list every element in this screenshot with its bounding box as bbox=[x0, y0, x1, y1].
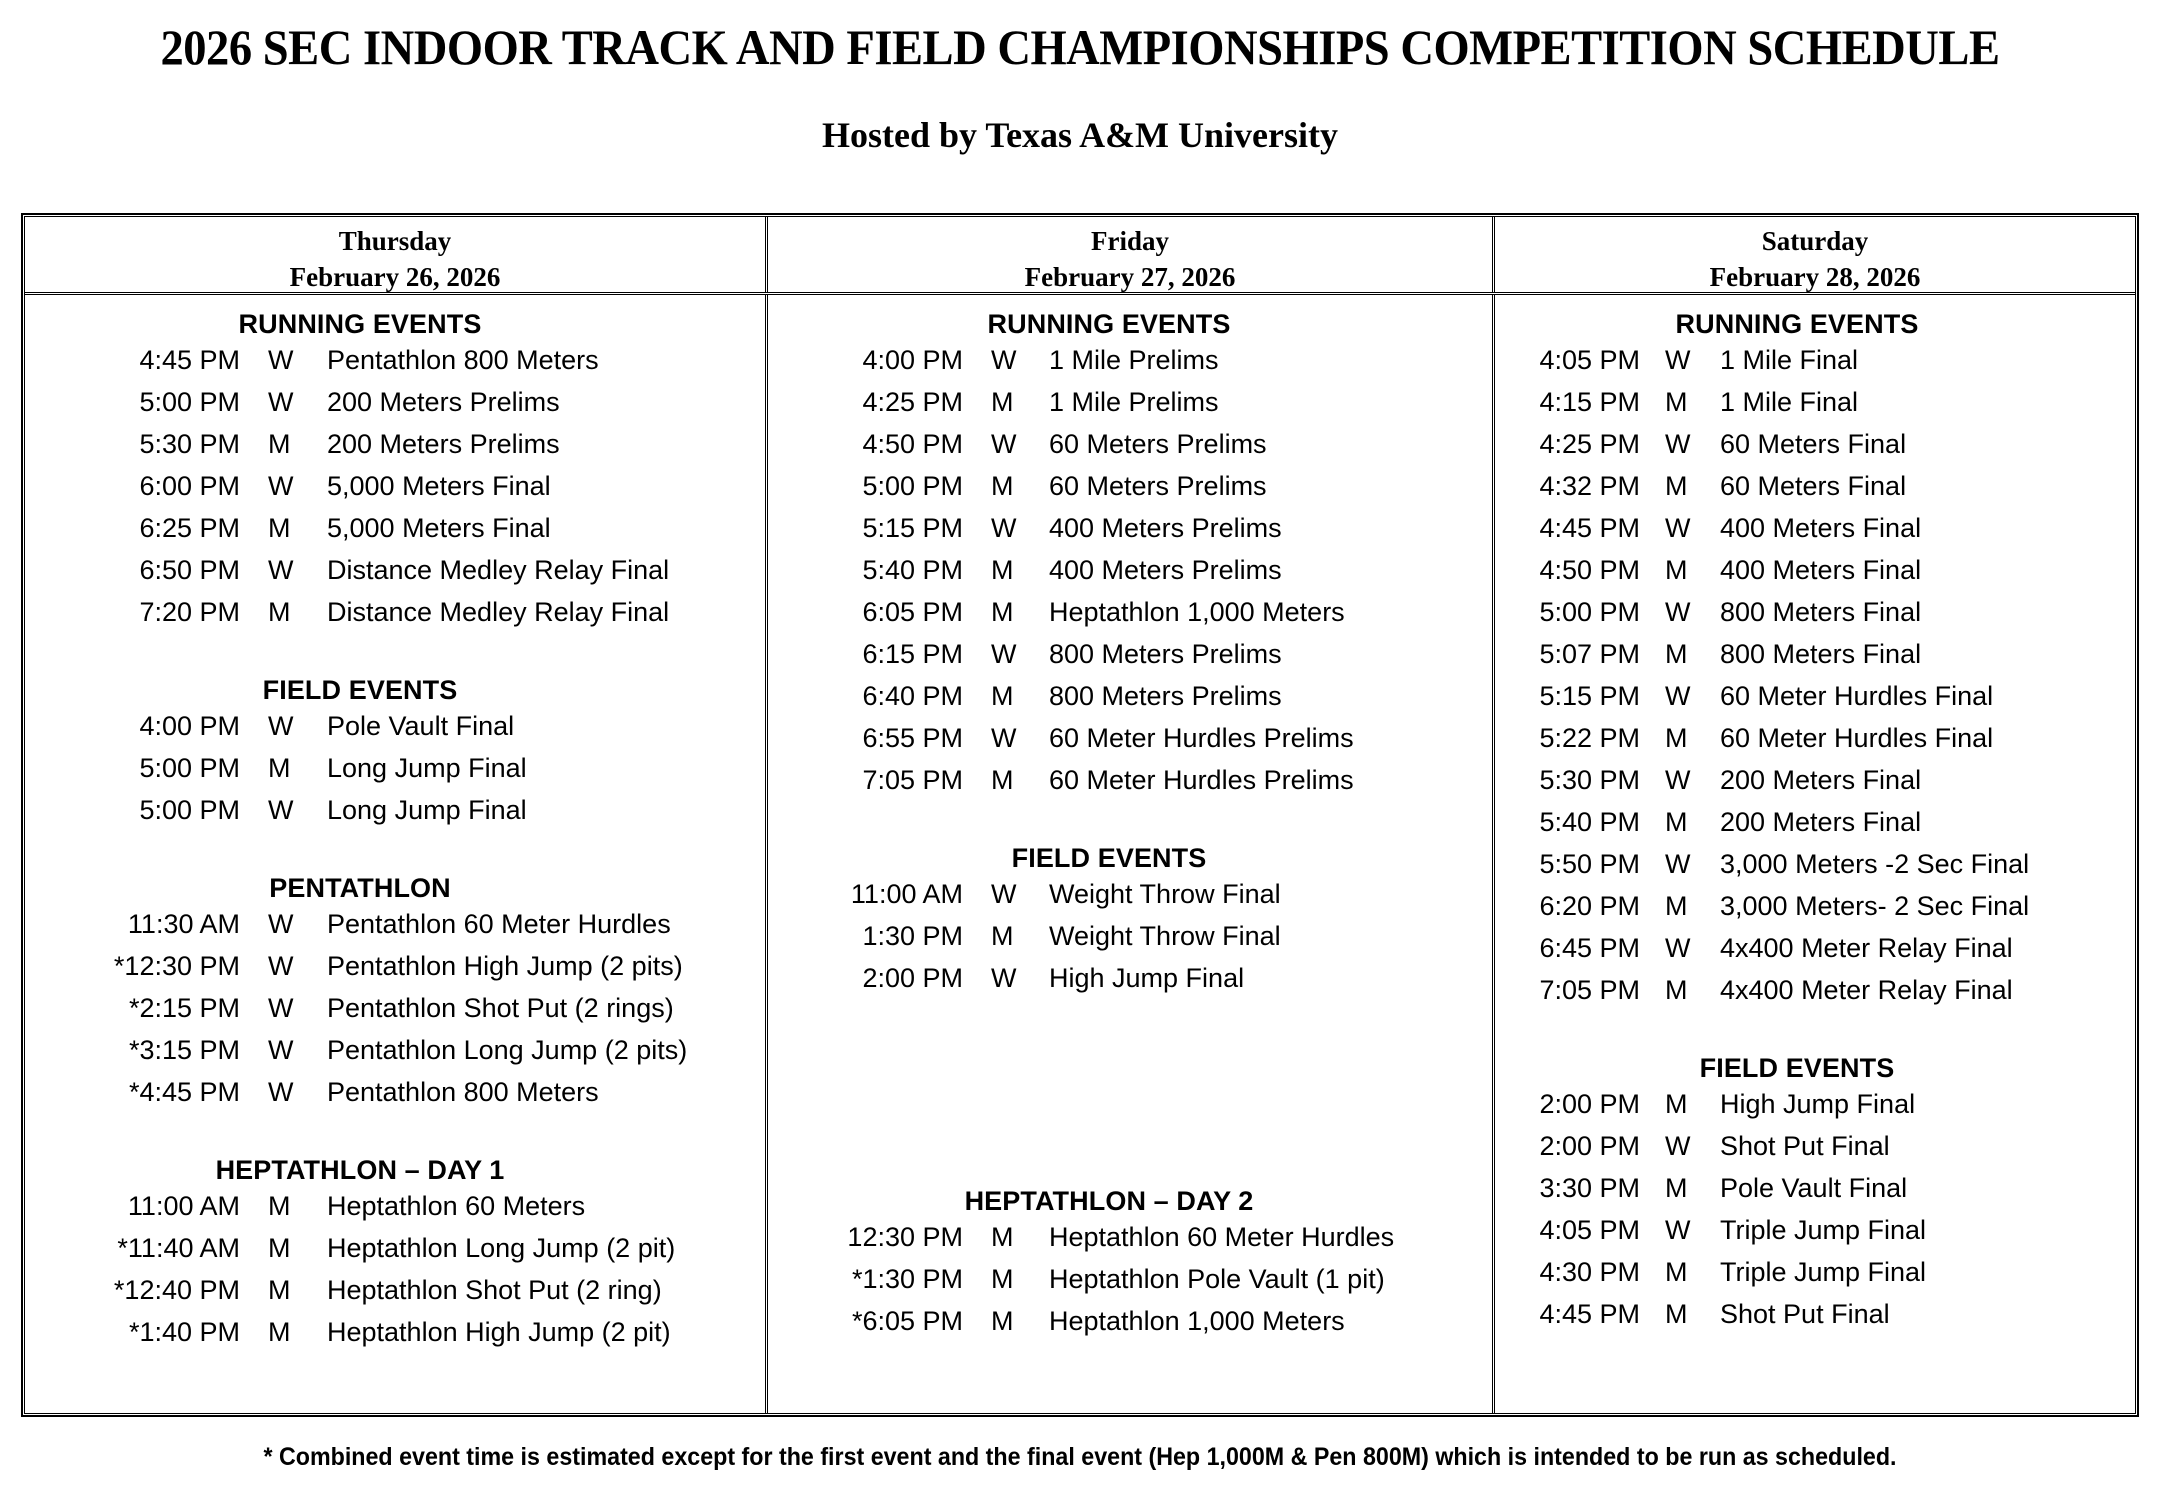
event-gender: M bbox=[240, 591, 310, 633]
event-name: Pentathlon 60 Meter Hurdles bbox=[310, 903, 765, 945]
event-name: 400 Meters Final bbox=[1702, 507, 2135, 549]
section-spacer bbox=[768, 801, 1492, 843]
table-header-row: Thursday February 26, 2026 Friday Februa… bbox=[25, 217, 2135, 295]
day-name: Thursday bbox=[25, 223, 765, 259]
event-list: 4:05 PMW1 Mile Final 4:15 PMM1 Mile Fina… bbox=[1495, 339, 2135, 1011]
page-title: 2026 SEC INDOOR TRACK AND FIELD CHAMPION… bbox=[76, 0, 2085, 72]
event-time: 5:30 PM bbox=[1495, 759, 1640, 801]
event-row: 5:50 PMW3,000 Meters -2 Sec Final bbox=[1495, 843, 2135, 885]
event-gender: W bbox=[963, 873, 1031, 915]
event-gender: M bbox=[963, 549, 1031, 591]
event-name: Heptathlon 1,000 Meters bbox=[1031, 1300, 1492, 1342]
event-name: Shot Put Final bbox=[1702, 1293, 2135, 1335]
event-name: 200 Meters Prelims bbox=[310, 423, 765, 465]
event-gender: M bbox=[1640, 801, 1702, 843]
event-list: 4:00 PMWPole Vault Final 5:00 PMMLong Ju… bbox=[25, 705, 765, 831]
event-row: 5:15 PMW400 Meters Prelims bbox=[768, 507, 1492, 549]
event-name: 60 Meters Final bbox=[1702, 465, 2135, 507]
event-row: 4:05 PMW1 Mile Final bbox=[1495, 339, 2135, 381]
day-column-friday: RUNNING EVENTS 4:00 PMW1 Mile Prelims 4:… bbox=[768, 295, 1495, 1413]
event-name: High Jump Final bbox=[1702, 1083, 2135, 1125]
event-gender: W bbox=[963, 957, 1031, 999]
event-row: 4:32 PMM60 Meters Final bbox=[1495, 465, 2135, 507]
event-row: 4:45 PMMShot Put Final bbox=[1495, 1293, 2135, 1335]
section-heading: FIELD EVENTS bbox=[1495, 1053, 2135, 1083]
event-row: 7:05 PMM60 Meter Hurdles Prelims bbox=[768, 759, 1492, 801]
event-time: 6:05 PM bbox=[768, 591, 963, 633]
event-time: *11:40 AM bbox=[25, 1227, 240, 1269]
event-name: 4x400 Meter Relay Final bbox=[1702, 927, 2135, 969]
event-row: 4:05 PMWTriple Jump Final bbox=[1495, 1209, 2135, 1251]
event-name: 60 Meter Hurdles Final bbox=[1702, 675, 2135, 717]
event-row: *6:05 PMMHeptathlon 1,000 Meters bbox=[768, 1300, 1492, 1342]
event-name: Weight Throw Final bbox=[1031, 873, 1492, 915]
event-gender: W bbox=[1640, 927, 1702, 969]
event-row: *4:45 PMWPentathlon 800 Meters bbox=[25, 1071, 765, 1113]
event-time: 6:40 PM bbox=[768, 675, 963, 717]
event-time: 2:00 PM bbox=[1495, 1083, 1640, 1125]
event-name: Long Jump Final bbox=[310, 747, 765, 789]
event-row: *12:30 PMWPentathlon High Jump (2 pits) bbox=[25, 945, 765, 987]
event-list: 4:00 PMW1 Mile Prelims 4:25 PMM1 Mile Pr… bbox=[768, 339, 1492, 801]
event-name: Distance Medley Relay Final bbox=[310, 591, 765, 633]
event-row: 4:50 PMW60 Meters Prelims bbox=[768, 423, 1492, 465]
event-time: 5:00 PM bbox=[25, 789, 240, 831]
event-gender: M bbox=[240, 747, 310, 789]
event-row: 11:00 AMMHeptathlon 60 Meters bbox=[25, 1185, 765, 1227]
event-name: 60 Meter Hurdles Prelims bbox=[1031, 717, 1492, 759]
event-gender: M bbox=[1640, 1251, 1702, 1293]
event-time: 2:00 PM bbox=[1495, 1125, 1640, 1167]
event-row: 2:00 PMMHigh Jump Final bbox=[1495, 1083, 2135, 1125]
section-spacer bbox=[768, 1167, 1492, 1186]
event-time: 6:45 PM bbox=[1495, 927, 1640, 969]
section-spacer bbox=[768, 1083, 1492, 1125]
event-name: 60 Meters Final bbox=[1702, 423, 2135, 465]
event-row: 5:22 PMM60 Meter Hurdles Final bbox=[1495, 717, 2135, 759]
event-gender: W bbox=[240, 705, 310, 747]
event-time: 5:30 PM bbox=[25, 423, 240, 465]
event-time: 4:05 PM bbox=[1495, 1209, 1640, 1251]
day-name: Friday bbox=[768, 223, 1492, 259]
event-time: 6:00 PM bbox=[25, 465, 240, 507]
event-gender: M bbox=[240, 1311, 310, 1353]
day-column-saturday: RUNNING EVENTS 4:05 PMW1 Mile Final 4:15… bbox=[1495, 295, 2135, 1413]
event-time: 4:25 PM bbox=[768, 381, 963, 423]
day-header-thursday: Thursday February 26, 2026 bbox=[25, 217, 768, 292]
event-row: 5:00 PMMLong Jump Final bbox=[25, 747, 765, 789]
event-time: 11:30 AM bbox=[25, 903, 240, 945]
section-heading: RUNNING EVENTS bbox=[1495, 309, 2135, 339]
event-time: 4:50 PM bbox=[1495, 549, 1640, 591]
event-gender: M bbox=[963, 1300, 1031, 1342]
event-time: 5:00 PM bbox=[1495, 591, 1640, 633]
event-gender: W bbox=[963, 423, 1031, 465]
event-time: 5:00 PM bbox=[25, 747, 240, 789]
event-row: *1:40 PMMHeptathlon High Jump (2 pit) bbox=[25, 1311, 765, 1353]
event-row: *1:30 PMMHeptathlon Pole Vault (1 pit) bbox=[768, 1258, 1492, 1300]
event-gender: M bbox=[1640, 717, 1702, 759]
footnote: * Combined event time is estimated excep… bbox=[76, 1444, 2085, 1472]
event-gender: M bbox=[963, 381, 1031, 423]
event-row: 5:07 PMM800 Meters Final bbox=[1495, 633, 2135, 675]
event-gender: M bbox=[240, 1185, 310, 1227]
event-time: *4:45 PM bbox=[25, 1071, 240, 1113]
event-gender: W bbox=[1640, 591, 1702, 633]
event-gender: M bbox=[963, 1258, 1031, 1300]
event-time: 4:45 PM bbox=[1495, 507, 1640, 549]
section-spacer bbox=[25, 831, 765, 873]
event-gender: W bbox=[1640, 1209, 1702, 1251]
event-gender: W bbox=[240, 945, 310, 987]
event-gender: W bbox=[240, 549, 310, 591]
event-row: 6:20 PMM3,000 Meters- 2 Sec Final bbox=[1495, 885, 2135, 927]
event-name: Pentathlon Shot Put (2 rings) bbox=[310, 987, 765, 1029]
event-time: *12:40 PM bbox=[25, 1269, 240, 1311]
event-name: 1 Mile Final bbox=[1702, 381, 2135, 423]
event-row: 5:15 PMW60 Meter Hurdles Final bbox=[1495, 675, 2135, 717]
event-name: 60 Meter Hurdles Final bbox=[1702, 717, 2135, 759]
event-time: 12:30 PM bbox=[768, 1216, 963, 1258]
event-row: *12:40 PMMHeptathlon Shot Put (2 ring) bbox=[25, 1269, 765, 1311]
event-name: 200 Meters Final bbox=[1702, 801, 2135, 843]
event-row: 5:00 PMWLong Jump Final bbox=[25, 789, 765, 831]
event-row: 6:45 PMW4x400 Meter Relay Final bbox=[1495, 927, 2135, 969]
section-spacer bbox=[768, 1125, 1492, 1167]
event-row: 5:00 PMW800 Meters Final bbox=[1495, 591, 2135, 633]
event-row: 5:00 PMW200 Meters Prelims bbox=[25, 381, 765, 423]
event-time: *6:05 PM bbox=[768, 1300, 963, 1342]
event-row: 2:00 PMWShot Put Final bbox=[1495, 1125, 2135, 1167]
event-gender: W bbox=[1640, 843, 1702, 885]
event-gender: M bbox=[1640, 465, 1702, 507]
event-row: 6:05 PMMHeptathlon 1,000 Meters bbox=[768, 591, 1492, 633]
event-time: *3:15 PM bbox=[25, 1029, 240, 1071]
event-time: 4:45 PM bbox=[1495, 1293, 1640, 1335]
event-list: 11:00 AMWWeight Throw Final 1:30 PMMWeig… bbox=[768, 873, 1492, 999]
event-time: 1:30 PM bbox=[768, 915, 963, 957]
event-list: 4:45 PMWPentathlon 800 Meters 5:00 PMW20… bbox=[25, 339, 765, 633]
day-date: February 26, 2026 bbox=[25, 259, 765, 295]
event-time: 4:00 PM bbox=[25, 705, 240, 747]
event-time: 5:40 PM bbox=[1495, 801, 1640, 843]
event-time: 4:32 PM bbox=[1495, 465, 1640, 507]
event-time: 5:07 PM bbox=[1495, 633, 1640, 675]
event-row: 2:00 PMWHigh Jump Final bbox=[768, 957, 1492, 999]
event-time: 6:15 PM bbox=[768, 633, 963, 675]
event-time: 4:15 PM bbox=[1495, 381, 1640, 423]
event-gender: M bbox=[1640, 969, 1702, 1011]
event-row: 4:00 PMW1 Mile Prelims bbox=[768, 339, 1492, 381]
event-name: Shot Put Final bbox=[1702, 1125, 2135, 1167]
event-time: 4:05 PM bbox=[1495, 339, 1640, 381]
event-gender: W bbox=[240, 987, 310, 1029]
event-gender: M bbox=[240, 1269, 310, 1311]
event-gender: M bbox=[963, 675, 1031, 717]
section-spacer bbox=[768, 1041, 1492, 1083]
event-row: 6:25 PMM5,000 Meters Final bbox=[25, 507, 765, 549]
event-gender: W bbox=[1640, 759, 1702, 801]
event-gender: W bbox=[240, 789, 310, 831]
event-row: 11:00 AMWWeight Throw Final bbox=[768, 873, 1492, 915]
event-time: 4:45 PM bbox=[25, 339, 240, 381]
event-name: 400 Meters Prelims bbox=[1031, 549, 1492, 591]
event-gender: M bbox=[963, 465, 1031, 507]
event-row: 7:20 PMMDistance Medley Relay Final bbox=[25, 591, 765, 633]
event-name: 5,000 Meters Final bbox=[310, 465, 765, 507]
event-row: 5:40 PMM400 Meters Prelims bbox=[768, 549, 1492, 591]
event-name: 3,000 Meters -2 Sec Final bbox=[1702, 843, 2135, 885]
event-gender: W bbox=[963, 633, 1031, 675]
event-time: 6:25 PM bbox=[25, 507, 240, 549]
section-heading: HEPTATHLON – DAY 2 bbox=[768, 1186, 1492, 1216]
event-row: 6:00 PMW5,000 Meters Final bbox=[25, 465, 765, 507]
event-gender: W bbox=[963, 717, 1031, 759]
event-name: Distance Medley Relay Final bbox=[310, 549, 765, 591]
section-heading: FIELD EVENTS bbox=[25, 675, 765, 705]
event-gender: W bbox=[1640, 507, 1702, 549]
event-time: 5:15 PM bbox=[768, 507, 963, 549]
event-time: 5:40 PM bbox=[768, 549, 963, 591]
event-name: Heptathlon High Jump (2 pit) bbox=[310, 1311, 765, 1353]
event-row: 6:15 PMW800 Meters Prelims bbox=[768, 633, 1492, 675]
event-gender: W bbox=[1640, 675, 1702, 717]
day-date: February 28, 2026 bbox=[1495, 259, 2135, 295]
section-spacer bbox=[768, 999, 1492, 1041]
section-heading: FIELD EVENTS bbox=[768, 843, 1492, 873]
event-gender: M bbox=[1640, 1167, 1702, 1209]
event-time: 6:20 PM bbox=[1495, 885, 1640, 927]
event-row: 5:00 PMM60 Meters Prelims bbox=[768, 465, 1492, 507]
day-header-friday: Friday February 27, 2026 bbox=[768, 217, 1495, 292]
section-spacer bbox=[25, 1113, 765, 1155]
section-heading: HEPTATHLON – DAY 1 bbox=[25, 1155, 765, 1185]
event-name: Pole Vault Final bbox=[310, 705, 765, 747]
event-time: 7:05 PM bbox=[1495, 969, 1640, 1011]
event-gender: M bbox=[963, 591, 1031, 633]
event-name: Heptathlon 60 Meter Hurdles bbox=[1031, 1216, 1492, 1258]
event-gender: W bbox=[963, 339, 1031, 381]
event-row: 7:05 PMM4x400 Meter Relay Final bbox=[1495, 969, 2135, 1011]
event-row: 11:30 AMWPentathlon 60 Meter Hurdles bbox=[25, 903, 765, 945]
event-name: Weight Throw Final bbox=[1031, 915, 1492, 957]
day-column-thursday: RUNNING EVENTS 4:45 PMWPentathlon 800 Me… bbox=[25, 295, 768, 1413]
event-time: 5:22 PM bbox=[1495, 717, 1640, 759]
event-name: 4x400 Meter Relay Final bbox=[1702, 969, 2135, 1011]
event-row: 4:00 PMWPole Vault Final bbox=[25, 705, 765, 747]
event-time: 6:50 PM bbox=[25, 549, 240, 591]
section-heading: RUNNING EVENTS bbox=[768, 309, 1492, 339]
event-name: Heptathlon 60 Meters bbox=[310, 1185, 765, 1227]
event-time: *1:40 PM bbox=[25, 1311, 240, 1353]
event-list: 12:30 PMMHeptathlon 60 Meter Hurdles *1:… bbox=[768, 1216, 1492, 1342]
event-name: Long Jump Final bbox=[310, 789, 765, 831]
event-name: 800 Meters Final bbox=[1702, 633, 2135, 675]
event-name: Pentathlon High Jump (2 pits) bbox=[310, 945, 765, 987]
section-spacer bbox=[1495, 1011, 2135, 1053]
event-time: 4:00 PM bbox=[768, 339, 963, 381]
event-name: High Jump Final bbox=[1031, 957, 1492, 999]
event-name: Pentathlon 800 Meters bbox=[310, 1071, 765, 1113]
event-gender: W bbox=[240, 465, 310, 507]
event-name: 200 Meters Prelims bbox=[310, 381, 765, 423]
event-row: 6:40 PMM800 Meters Prelims bbox=[768, 675, 1492, 717]
event-name: 60 Meters Prelims bbox=[1031, 423, 1492, 465]
schedule-page: 2026 SEC INDOOR TRACK AND FIELD CHAMPION… bbox=[0, 0, 2160, 1502]
event-row: 6:55 PMW60 Meter Hurdles Prelims bbox=[768, 717, 1492, 759]
event-gender: M bbox=[1640, 1083, 1702, 1125]
event-name: 200 Meters Final bbox=[1702, 759, 2135, 801]
title-block: 2026 SEC INDOOR TRACK AND FIELD CHAMPION… bbox=[0, 0, 2160, 153]
event-time: 2:00 PM bbox=[768, 957, 963, 999]
event-gender: M bbox=[1640, 885, 1702, 927]
event-row: *2:15 PMWPentathlon Shot Put (2 rings) bbox=[25, 987, 765, 1029]
event-name: 800 Meters Final bbox=[1702, 591, 2135, 633]
event-row: 12:30 PMMHeptathlon 60 Meter Hurdles bbox=[768, 1216, 1492, 1258]
event-time: 11:00 AM bbox=[768, 873, 963, 915]
event-name: 3,000 Meters- 2 Sec Final bbox=[1702, 885, 2135, 927]
section-heading: RUNNING EVENTS bbox=[25, 309, 765, 339]
event-row: *3:15 PMWPentathlon Long Jump (2 pits) bbox=[25, 1029, 765, 1071]
event-gender: M bbox=[1640, 633, 1702, 675]
event-time: *1:30 PM bbox=[768, 1258, 963, 1300]
event-name: Pentathlon 800 Meters bbox=[310, 339, 765, 381]
event-row: 1:30 PMMWeight Throw Final bbox=[768, 915, 1492, 957]
event-row: 4:25 PMW60 Meters Final bbox=[1495, 423, 2135, 465]
event-gender: M bbox=[963, 915, 1031, 957]
event-name: Pole Vault Final bbox=[1702, 1167, 2135, 1209]
event-name: Pentathlon Long Jump (2 pits) bbox=[310, 1029, 765, 1071]
event-gender: M bbox=[240, 423, 310, 465]
event-name: Heptathlon Long Jump (2 pit) bbox=[310, 1227, 765, 1269]
section-spacer bbox=[25, 633, 765, 675]
event-time: *2:15 PM bbox=[25, 987, 240, 1029]
event-name: 60 Meters Prelims bbox=[1031, 465, 1492, 507]
event-time: 4:25 PM bbox=[1495, 423, 1640, 465]
page-subtitle: Hosted by Texas A&M University bbox=[0, 72, 2160, 153]
event-row: 4:50 PMM400 Meters Final bbox=[1495, 549, 2135, 591]
event-name: Heptathlon Shot Put (2 ring) bbox=[310, 1269, 765, 1311]
event-name: 800 Meters Prelims bbox=[1031, 633, 1492, 675]
event-time: 5:50 PM bbox=[1495, 843, 1640, 885]
day-name: Saturday bbox=[1495, 223, 2135, 259]
day-header-saturday: Saturday February 28, 2026 bbox=[1495, 217, 2135, 292]
event-name: 800 Meters Prelims bbox=[1031, 675, 1492, 717]
event-gender: W bbox=[240, 381, 310, 423]
event-row: 3:30 PMMPole Vault Final bbox=[1495, 1167, 2135, 1209]
event-name: 5,000 Meters Final bbox=[310, 507, 765, 549]
event-time: *12:30 PM bbox=[25, 945, 240, 987]
event-time: 5:00 PM bbox=[25, 381, 240, 423]
event-gender: M bbox=[1640, 549, 1702, 591]
event-row: 4:30 PMMTriple Jump Final bbox=[1495, 1251, 2135, 1293]
event-time: 4:50 PM bbox=[768, 423, 963, 465]
event-row: 5:30 PMW200 Meters Final bbox=[1495, 759, 2135, 801]
event-name: Heptathlon Pole Vault (1 pit) bbox=[1031, 1258, 1492, 1300]
event-time: 7:20 PM bbox=[25, 591, 240, 633]
event-row: 6:50 PMWDistance Medley Relay Final bbox=[25, 549, 765, 591]
event-time: 7:05 PM bbox=[768, 759, 963, 801]
event-gender: M bbox=[1640, 381, 1702, 423]
event-time: 3:30 PM bbox=[1495, 1167, 1640, 1209]
event-name: 1 Mile Final bbox=[1702, 339, 2135, 381]
event-gender: W bbox=[1640, 1125, 1702, 1167]
event-row: 4:45 PMW400 Meters Final bbox=[1495, 507, 2135, 549]
event-gender: W bbox=[240, 903, 310, 945]
event-time: 4:30 PM bbox=[1495, 1251, 1640, 1293]
event-gender: M bbox=[1640, 1293, 1702, 1335]
event-row: 4:45 PMWPentathlon 800 Meters bbox=[25, 339, 765, 381]
event-gender: M bbox=[963, 759, 1031, 801]
event-gender: M bbox=[240, 1227, 310, 1269]
event-list: 11:00 AMMHeptathlon 60 Meters *11:40 AMM… bbox=[25, 1185, 765, 1353]
event-gender: W bbox=[1640, 339, 1702, 381]
section-heading: PENTATHLON bbox=[25, 873, 765, 903]
event-row: 5:40 PMM200 Meters Final bbox=[1495, 801, 2135, 843]
event-list: 2:00 PMMHigh Jump Final 2:00 PMWShot Put… bbox=[1495, 1083, 2135, 1335]
event-gender: M bbox=[240, 507, 310, 549]
event-name: 1 Mile Prelims bbox=[1031, 339, 1492, 381]
event-name: 60 Meter Hurdles Prelims bbox=[1031, 759, 1492, 801]
day-date: February 27, 2026 bbox=[768, 259, 1492, 295]
event-row: 5:30 PMM200 Meters Prelims bbox=[25, 423, 765, 465]
event-name: 1 Mile Prelims bbox=[1031, 381, 1492, 423]
event-name: Triple Jump Final bbox=[1702, 1209, 2135, 1251]
event-gender: W bbox=[240, 1071, 310, 1113]
event-gender: W bbox=[240, 339, 310, 381]
event-gender: W bbox=[963, 507, 1031, 549]
event-name: 400 Meters Prelims bbox=[1031, 507, 1492, 549]
event-time: 5:00 PM bbox=[768, 465, 963, 507]
event-list: 11:30 AMWPentathlon 60 Meter Hurdles *12… bbox=[25, 903, 765, 1113]
event-gender: M bbox=[963, 1216, 1031, 1258]
event-row: 4:25 PMM1 Mile Prelims bbox=[768, 381, 1492, 423]
event-time: 6:55 PM bbox=[768, 717, 963, 759]
event-name: 400 Meters Final bbox=[1702, 549, 2135, 591]
event-time: 5:15 PM bbox=[1495, 675, 1640, 717]
table-body-row: RUNNING EVENTS 4:45 PMWPentathlon 800 Me… bbox=[25, 295, 2135, 1413]
event-name: Heptathlon 1,000 Meters bbox=[1031, 591, 1492, 633]
schedule-table: Thursday February 26, 2026 Friday Februa… bbox=[22, 214, 2138, 1416]
event-time: 11:00 AM bbox=[25, 1185, 240, 1227]
event-gender: W bbox=[240, 1029, 310, 1071]
event-row: *11:40 AMMHeptathlon Long Jump (2 pit) bbox=[25, 1227, 765, 1269]
event-row: 4:15 PMM1 Mile Final bbox=[1495, 381, 2135, 423]
event-name: Triple Jump Final bbox=[1702, 1251, 2135, 1293]
event-gender: W bbox=[1640, 423, 1702, 465]
